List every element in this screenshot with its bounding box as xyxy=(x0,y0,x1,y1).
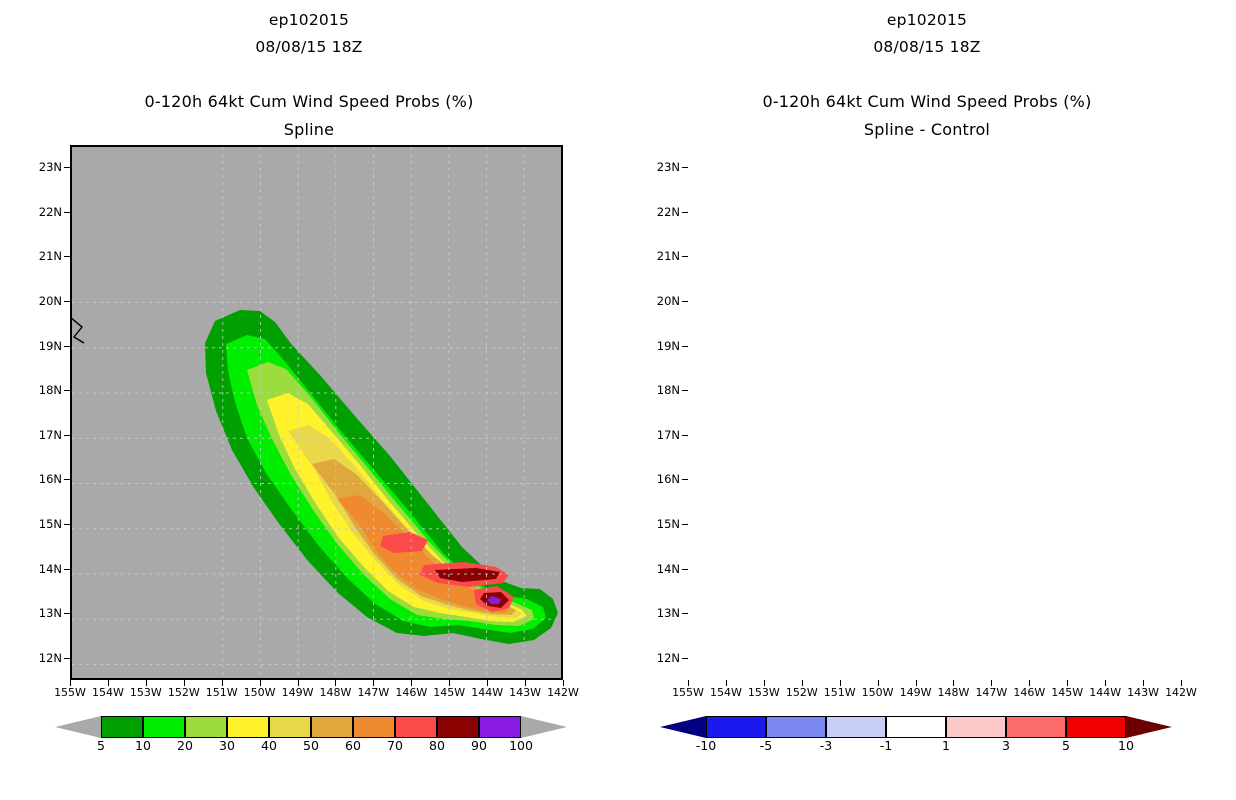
colorbar-segment xyxy=(227,716,269,738)
y-tick-mark xyxy=(682,390,688,391)
panel-title-right: 0-120h 64kt Cum Wind Speed Probs (%) xyxy=(618,92,1236,111)
x-tick-mark xyxy=(335,680,336,686)
x-tick-label: 155W xyxy=(667,686,709,699)
y-tick-label: 19N xyxy=(642,339,680,353)
x-tick-label: 146W xyxy=(390,686,432,699)
x-tick-label: 148W xyxy=(932,686,974,699)
map-canvas-spline xyxy=(72,147,561,678)
colorbar-right-arrow-icon xyxy=(1126,716,1172,738)
x-tick-label: 146W xyxy=(1008,686,1050,699)
x-tick-mark xyxy=(802,680,803,686)
y-tick-label: 22N xyxy=(24,205,62,219)
colorbar-segment xyxy=(437,716,479,738)
colorbar-segment xyxy=(766,716,826,738)
y-tick-label: 12N xyxy=(24,651,62,665)
y-tick-mark xyxy=(64,301,70,302)
x-tick-mark xyxy=(878,680,879,686)
x-tick-mark xyxy=(764,680,765,686)
colorbar-segment xyxy=(1066,716,1126,738)
x-tick-label: 143W xyxy=(504,686,546,699)
y-tick-mark xyxy=(682,569,688,570)
colorbar-tick-label: 40 xyxy=(249,738,289,753)
probability-colorbar xyxy=(101,716,521,738)
y-tick-mark xyxy=(64,167,70,168)
y-tick-label: 22N xyxy=(642,205,680,219)
map-plot-spline xyxy=(70,145,563,680)
y-tick-label: 15N xyxy=(24,517,62,531)
x-tick-mark xyxy=(184,680,185,686)
x-tick-label: 142W xyxy=(542,686,584,699)
x-tick-mark xyxy=(222,680,223,686)
colorbar-segment xyxy=(1006,716,1066,738)
x-tick-mark xyxy=(487,680,488,686)
x-tick-mark xyxy=(1067,680,1068,686)
datetime-left: 08/08/15 18Z xyxy=(0,38,618,56)
colorbar-left-arrow-icon xyxy=(660,716,706,738)
x-tick-label: 149W xyxy=(895,686,937,699)
y-tick-label: 17N xyxy=(642,428,680,442)
colorbar-tick-label: -10 xyxy=(686,738,726,753)
colorbar-segment xyxy=(185,716,227,738)
x-tick-mark xyxy=(146,680,147,686)
x-tick-label: 144W xyxy=(1084,686,1126,699)
storm-id-left: ep102015 xyxy=(0,11,618,29)
colorbar-tick-label: 10 xyxy=(1106,738,1146,753)
y-tick-label: 21N xyxy=(642,249,680,263)
y-tick-mark xyxy=(64,479,70,480)
colorbar-segment xyxy=(886,716,946,738)
x-tick-label: 142W xyxy=(1160,686,1202,699)
colorbar-segment xyxy=(311,716,353,738)
colorbar-segment xyxy=(826,716,886,738)
y-tick-mark xyxy=(682,167,688,168)
y-tick-label: 20N xyxy=(24,294,62,308)
x-tick-mark xyxy=(298,680,299,686)
y-tick-label: 14N xyxy=(24,562,62,576)
colorbar-left-arrow-icon xyxy=(55,716,101,738)
x-tick-label: 152W xyxy=(781,686,823,699)
x-tick-mark xyxy=(563,680,564,686)
x-tick-mark xyxy=(1143,680,1144,686)
y-tick-label: 21N xyxy=(24,249,62,263)
x-tick-mark xyxy=(991,680,992,686)
x-tick-mark xyxy=(1181,680,1182,686)
y-tick-mark xyxy=(682,524,688,525)
y-tick-label: 18N xyxy=(24,383,62,397)
colorbar-segment xyxy=(353,716,395,738)
colorbar-tick-label: 10 xyxy=(123,738,163,753)
colorbar-segment xyxy=(395,716,437,738)
y-tick-label: 16N xyxy=(642,472,680,486)
x-tick-label: 154W xyxy=(87,686,129,699)
x-tick-mark xyxy=(70,680,71,686)
y-tick-mark xyxy=(682,658,688,659)
colorbar-tick-label: 3 xyxy=(986,738,1026,753)
colorbar-segment xyxy=(706,716,766,738)
panel-subtitle-right: Spline - Control xyxy=(618,120,1236,139)
y-tick-mark xyxy=(682,435,688,436)
x-tick-mark xyxy=(1105,680,1106,686)
x-tick-mark xyxy=(525,680,526,686)
x-tick-label: 148W xyxy=(314,686,356,699)
x-tick-mark xyxy=(726,680,727,686)
x-tick-label: 155W xyxy=(49,686,91,699)
x-tick-mark xyxy=(916,680,917,686)
x-tick-mark xyxy=(108,680,109,686)
x-tick-label: 144W xyxy=(466,686,508,699)
x-tick-label: 150W xyxy=(239,686,281,699)
colorbar-tick-label: -5 xyxy=(746,738,786,753)
colorbar-tick-label: 1 xyxy=(926,738,966,753)
x-tick-label: 154W xyxy=(705,686,747,699)
colorbar-segment xyxy=(143,716,185,738)
y-tick-mark xyxy=(64,212,70,213)
colorbar-tick-label: 80 xyxy=(417,738,457,753)
y-tick-label: 16N xyxy=(24,472,62,486)
y-tick-label: 15N xyxy=(642,517,680,531)
x-tick-mark xyxy=(840,680,841,686)
x-tick-label: 151W xyxy=(201,686,243,699)
y-tick-mark xyxy=(64,524,70,525)
y-tick-mark xyxy=(682,479,688,480)
colorbar-tick-label: 100 xyxy=(501,738,541,753)
y-tick-label: 17N xyxy=(24,428,62,442)
y-tick-mark xyxy=(682,613,688,614)
y-tick-mark xyxy=(64,390,70,391)
x-tick-label: 152W xyxy=(163,686,205,699)
y-tick-label: 13N xyxy=(642,606,680,620)
x-tick-label: 150W xyxy=(857,686,899,699)
y-tick-mark xyxy=(682,256,688,257)
x-tick-mark xyxy=(260,680,261,686)
coastline-fragment-left xyxy=(72,317,84,343)
x-tick-label: 149W xyxy=(277,686,319,699)
x-tick-mark xyxy=(953,680,954,686)
colorbar-right-arrow-icon xyxy=(521,716,567,738)
colorbar-tick-label: 5 xyxy=(1046,738,1086,753)
x-tick-label: 145W xyxy=(428,686,470,699)
x-tick-label: 153W xyxy=(743,686,785,699)
colorbar-tick-label: 60 xyxy=(333,738,373,753)
storm-id-right: ep102015 xyxy=(618,11,1236,29)
y-tick-mark xyxy=(682,212,688,213)
x-tick-label: 145W xyxy=(1046,686,1088,699)
y-tick-label: 13N xyxy=(24,606,62,620)
y-tick-mark xyxy=(64,256,70,257)
y-tick-mark xyxy=(682,346,688,347)
y-tick-mark xyxy=(682,301,688,302)
panel-title-left: 0-120h 64kt Cum Wind Speed Probs (%) xyxy=(0,92,618,111)
colorbar-segment xyxy=(101,716,143,738)
colorbar-tick-label: 90 xyxy=(459,738,499,753)
wind-speed-probability-figure: ep102015 08/08/15 18Z 0-120h 64kt Cum Wi… xyxy=(0,0,1236,800)
colorbar-tick-label: 30 xyxy=(207,738,247,753)
contour-field-spline xyxy=(72,147,561,678)
y-tick-label: 18N xyxy=(642,383,680,397)
y-tick-label: 20N xyxy=(642,294,680,308)
difference-colorbar xyxy=(706,716,1126,738)
colorbar-tick-label: -1 xyxy=(866,738,906,753)
x-tick-label: 147W xyxy=(352,686,394,699)
x-tick-mark xyxy=(411,680,412,686)
colorbar-segment xyxy=(946,716,1006,738)
x-tick-label: 147W xyxy=(970,686,1012,699)
x-tick-label: 151W xyxy=(819,686,861,699)
colorbar-tick-label: 20 xyxy=(165,738,205,753)
x-tick-mark xyxy=(449,680,450,686)
x-tick-mark xyxy=(688,680,689,686)
y-tick-label: 23N xyxy=(24,160,62,174)
colorbar-segment xyxy=(269,716,311,738)
y-tick-mark xyxy=(64,613,70,614)
y-tick-label: 19N xyxy=(24,339,62,353)
y-tick-mark xyxy=(64,569,70,570)
x-tick-label: 143W xyxy=(1122,686,1164,699)
x-tick-mark xyxy=(1029,680,1030,686)
colorbar-tick-label: 50 xyxy=(291,738,331,753)
colorbar-tick-label: -3 xyxy=(806,738,846,753)
datetime-right: 08/08/15 18Z xyxy=(618,38,1236,56)
y-tick-mark xyxy=(64,435,70,436)
y-tick-mark xyxy=(64,346,70,347)
panel-subtitle-left: Spline xyxy=(0,120,618,139)
colorbar-segment xyxy=(479,716,521,738)
y-tick-label: 14N xyxy=(642,562,680,576)
x-tick-mark xyxy=(373,680,374,686)
y-tick-mark xyxy=(64,658,70,659)
y-tick-label: 12N xyxy=(642,651,680,665)
colorbar-tick-label: 70 xyxy=(375,738,415,753)
x-tick-label: 153W xyxy=(125,686,167,699)
colorbar-tick-label: 5 xyxy=(81,738,121,753)
y-tick-label: 23N xyxy=(642,160,680,174)
